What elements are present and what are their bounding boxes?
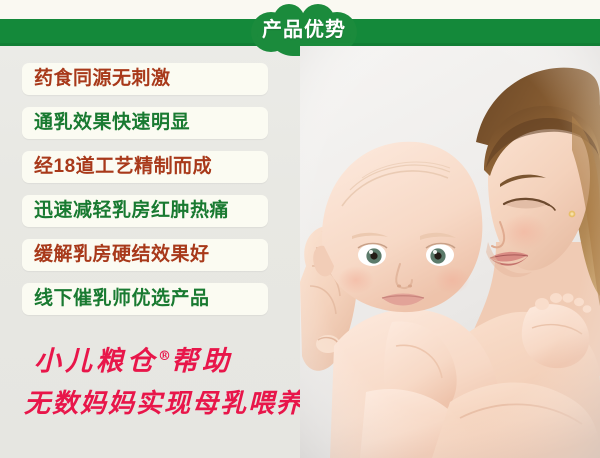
section-title-text: 产品优势 [251, 18, 357, 42]
slogan-line-1-suffix: 帮助 [171, 346, 233, 377]
slogan-line-2: 无数妈妈实现母乳喂养 [24, 383, 324, 425]
slogan-line-1: 小儿粮仓®帮助 [24, 336, 324, 383]
product-advantage-poster: 产品优势 药食同源无刺激 通乳效果快速明显 经18道工艺精制而成 迅速减轻乳房红… [0, 0, 600, 458]
benefit-item-6: 线下催乳师优选产品 [22, 283, 268, 315]
benefit-item-2: 通乳效果快速明显 [22, 107, 268, 139]
registered-trademark-icon: ® [158, 349, 171, 364]
brand-name: 小儿粮仓 [34, 346, 158, 377]
benefit-list: 药食同源无刺激 通乳效果快速明显 经18道工艺精制而成 迅速减轻乳房红肿热痛 缓… [22, 63, 268, 327]
brand-slogan: 小儿粮仓®帮助 无数妈妈实现母乳喂养 [24, 336, 324, 425]
mother-and-baby-illustration [300, 46, 600, 458]
benefit-item-3: 经18道工艺精制而成 [22, 151, 268, 183]
benefit-label-4: 迅速减轻乳房红肿热痛 [22, 195, 229, 227]
benefit-label-1: 药食同源无刺激 [22, 63, 171, 95]
benefit-label-6: 线下催乳师优选产品 [22, 283, 210, 315]
mother-and-baby-photo [300, 46, 600, 458]
benefit-label-2: 通乳效果快速明显 [22, 107, 190, 139]
benefit-label-3: 经18道工艺精制而成 [22, 151, 212, 183]
benefit-item-5: 缓解乳房硬结效果好 [22, 239, 268, 271]
benefit-label-5: 缓解乳房硬结效果好 [22, 239, 210, 271]
benefit-item-4: 迅速减轻乳房红肿热痛 [22, 195, 268, 227]
benefit-item-1: 药食同源无刺激 [22, 63, 268, 95]
